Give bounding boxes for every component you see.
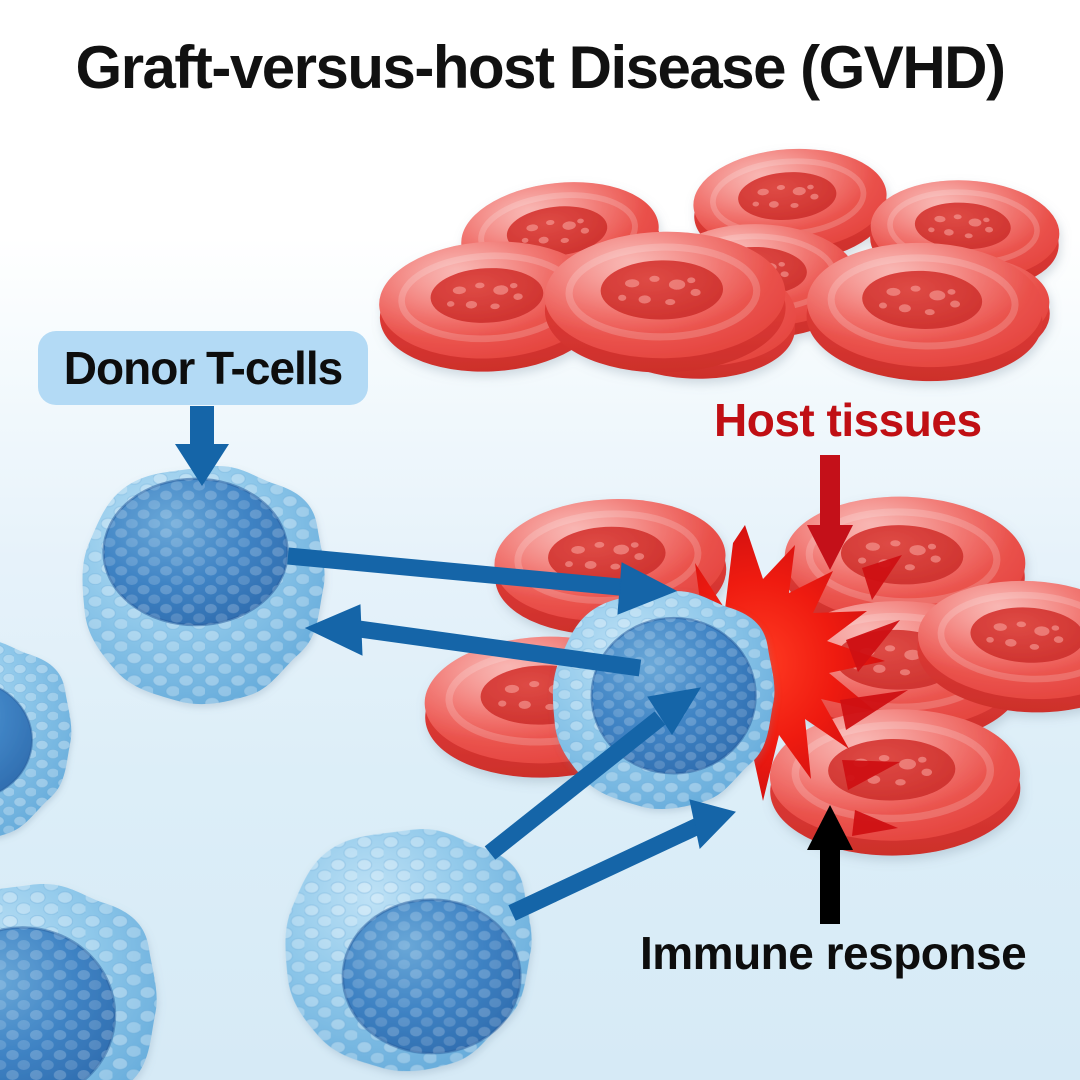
donor-tcells-label: Donor T-cells xyxy=(38,331,368,405)
gvhd-illustration: Graft-versus-host Disease (GVHD) Donor T… xyxy=(0,0,1080,1080)
host-tissues-label: Host tissues xyxy=(714,397,982,443)
tcell-partial-left xyxy=(0,884,157,1080)
illustration-canvas xyxy=(0,0,1080,1080)
tcell-partial-mid-left xyxy=(0,639,71,841)
immune-response-label: Immune response xyxy=(640,930,1026,976)
page-title: Graft-versus-host Disease (GVHD) xyxy=(0,38,1080,98)
tcell-upper-left xyxy=(83,466,325,704)
tcell-lower-middle xyxy=(285,829,531,1071)
red-blood-cell-cluster xyxy=(376,143,1062,386)
